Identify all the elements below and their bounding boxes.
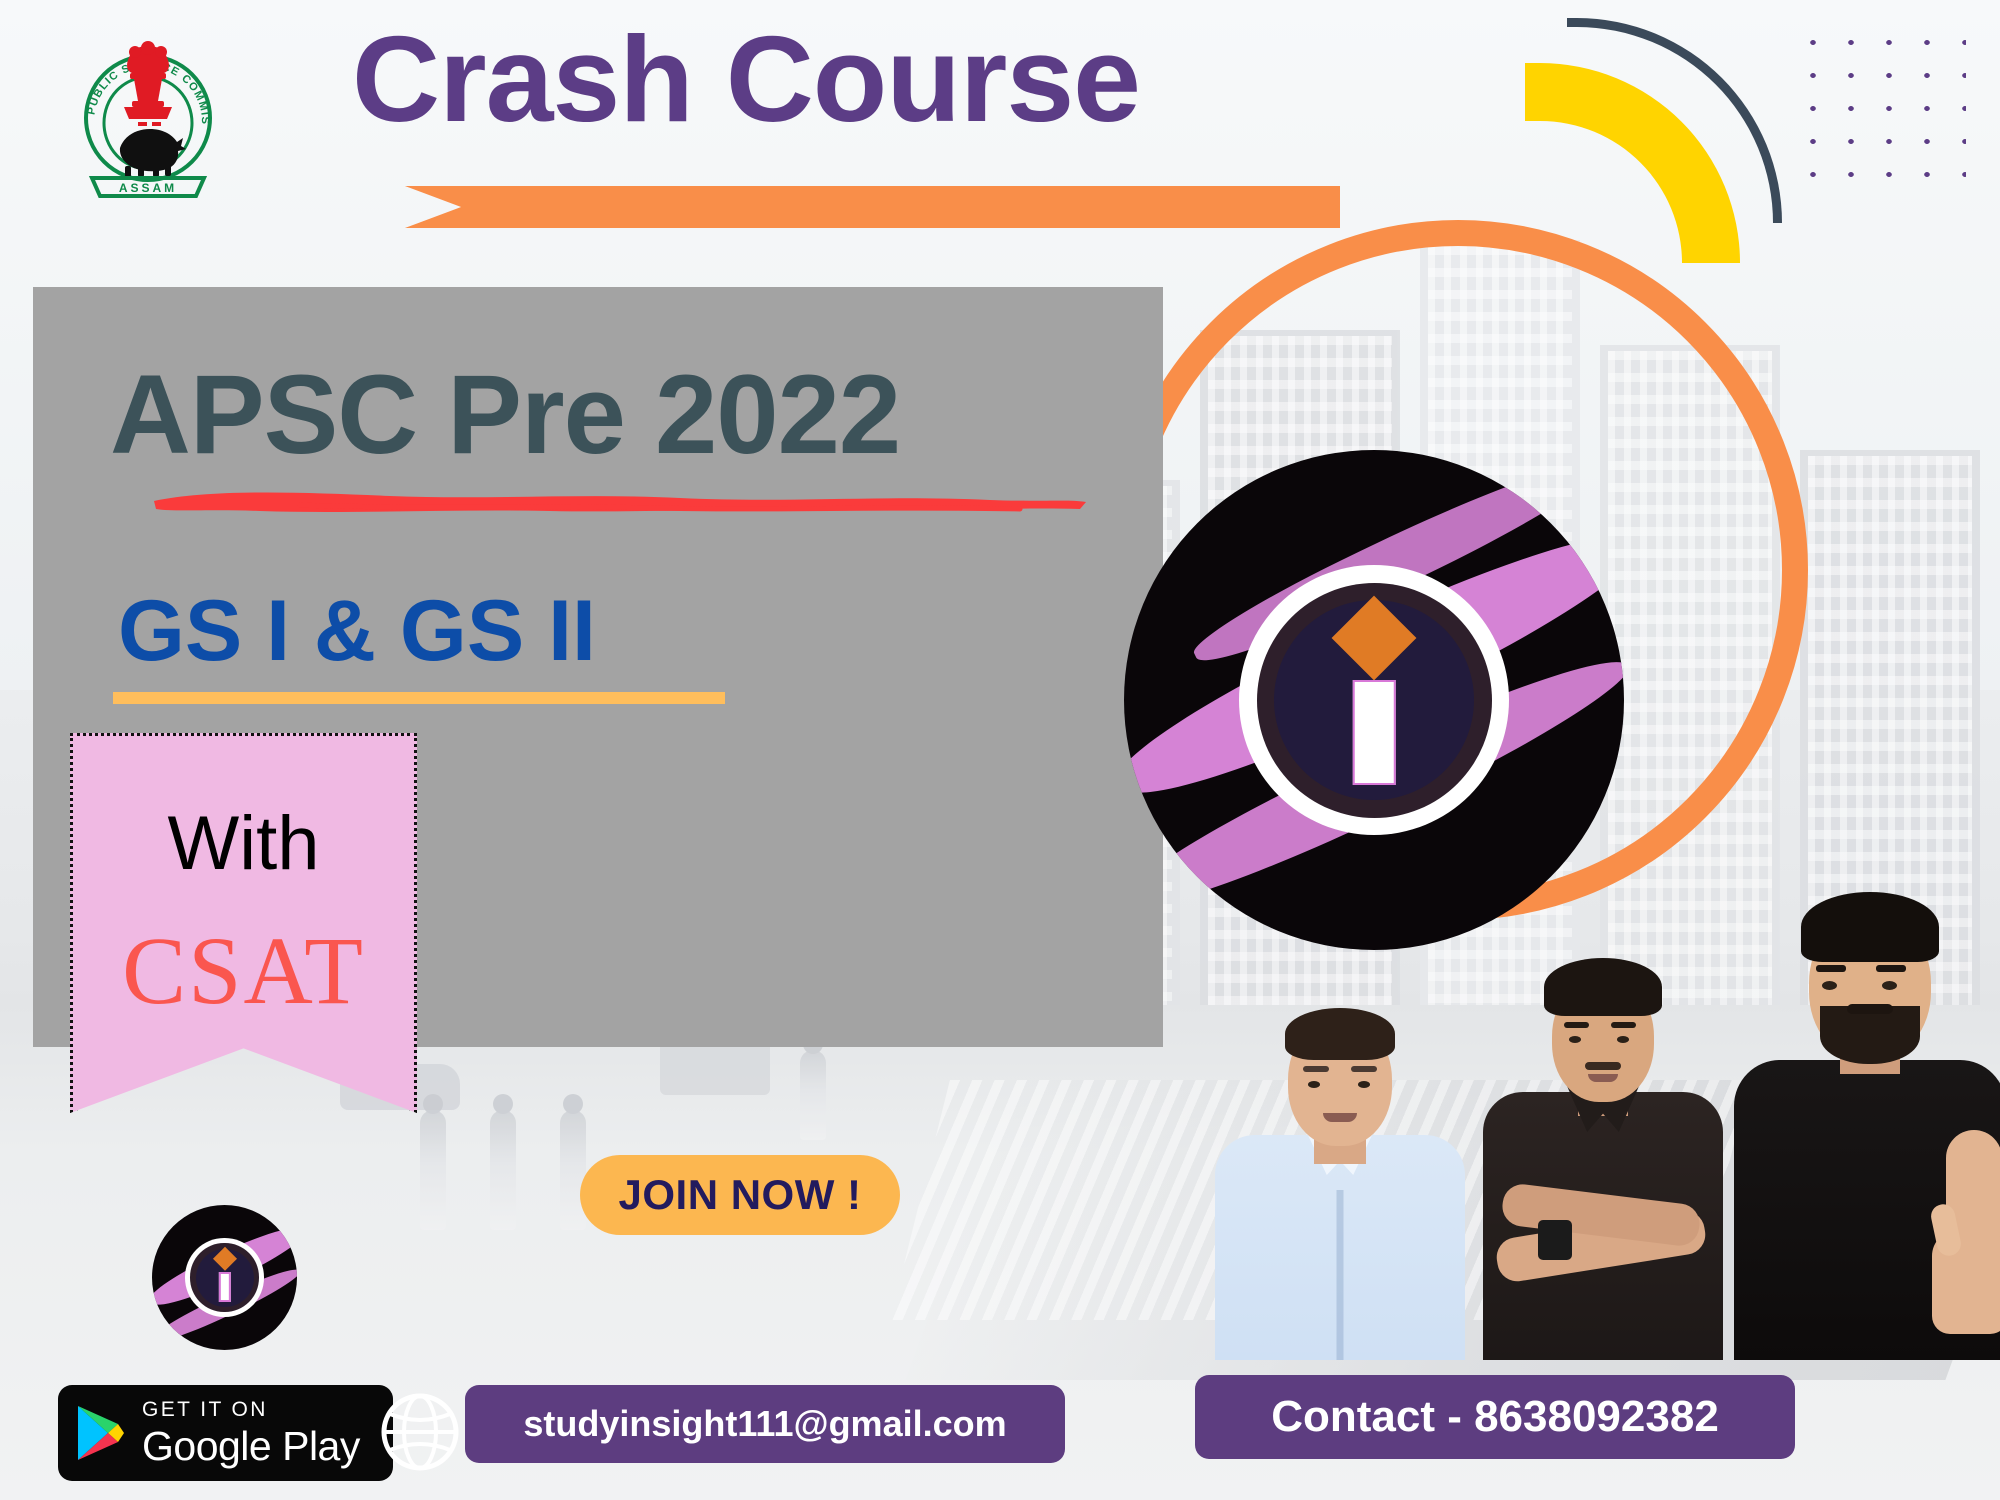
wristwatch-icon <box>1538 1220 1572 1260</box>
logo-i-bar-icon <box>218 1272 230 1302</box>
orange-ribbon-icon <box>405 186 1340 228</box>
exam-title: APSC Pre 2022 <box>110 350 900 479</box>
eyebrow <box>1611 1022 1636 1028</box>
ribbon-fill <box>405 186 1340 228</box>
brand-logo-small-icon <box>152 1205 297 1350</box>
subjects-underline <box>113 692 725 704</box>
eye <box>1822 981 1837 990</box>
google-play-text: GET IT ON Google Play <box>142 1399 360 1467</box>
mouth <box>1588 1074 1618 1082</box>
eye <box>1882 981 1897 990</box>
eye <box>1617 1036 1629 1043</box>
eye <box>1358 1081 1370 1088</box>
csat-subject-label: CSAT <box>70 915 417 1026</box>
red-brush-underline-icon <box>150 485 1090 517</box>
globe-www-icon <box>378 1390 462 1474</box>
hair <box>1801 892 1939 962</box>
page-title: Crash Course <box>352 14 1472 146</box>
eye <box>1308 1081 1320 1088</box>
shirt-placket <box>1337 1190 1344 1360</box>
google-play-badge[interactable]: GET IT ON Google Play <box>58 1385 393 1481</box>
pedestrian-silhouette <box>800 1050 826 1140</box>
hair <box>1544 958 1662 1016</box>
google-play-triangle-icon <box>74 1404 126 1462</box>
promotional-poster: PUBLIC SERVICE COMMISSION <box>0 0 2000 1500</box>
instructor-3-photo <box>1730 890 2000 1360</box>
instructor-2-photo <box>1478 960 1728 1360</box>
mouth <box>1323 1113 1357 1122</box>
svg-text:ASSAM: ASSAM <box>119 181 177 195</box>
join-now-button[interactable]: JOIN NOW ! <box>580 1155 900 1235</box>
eyebrow <box>1564 1022 1589 1028</box>
subjects-title: GS I & GS II <box>118 582 596 681</box>
contact-pill[interactable]: Contact - 8638092382 <box>1195 1375 1795 1459</box>
moustache <box>1847 1004 1893 1014</box>
google-play-big-label: Google Play <box>142 1426 360 1467</box>
email-pill[interactable]: studyinsight111@gmail.com <box>465 1385 1065 1463</box>
slate-quarter-ring-outline <box>1567 18 1782 223</box>
eyebrow <box>1351 1066 1377 1072</box>
brand-logo-icon <box>1124 450 1624 950</box>
pedestrian-silhouette <box>560 1110 586 1230</box>
eyebrow <box>1816 965 1846 972</box>
beard <box>1820 1006 1920 1064</box>
google-play-small-label: GET IT ON <box>142 1399 360 1420</box>
pedestrian-silhouette <box>420 1110 446 1230</box>
eyebrow <box>1876 965 1906 972</box>
csat-with-label: With <box>70 800 417 887</box>
hair <box>1285 1008 1395 1060</box>
moustache <box>1585 1062 1621 1070</box>
quarter-ring-icon <box>1525 8 1825 258</box>
logo-i-bar-icon <box>1353 680 1396 785</box>
pedestrian-silhouette <box>490 1110 516 1230</box>
instructor-1-photo <box>1215 1030 1465 1360</box>
eye <box>1569 1036 1581 1043</box>
eyebrow <box>1303 1066 1329 1072</box>
apsc-emblem-icon: PUBLIC SERVICE COMMISSION <box>68 18 228 208</box>
